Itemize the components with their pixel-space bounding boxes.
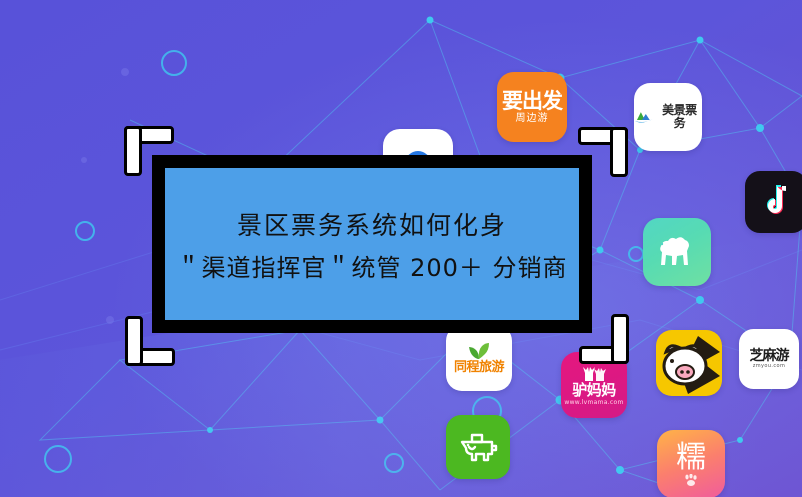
app-icon-qunar[interactable] <box>643 218 711 286</box>
app-icon-feizhu[interactable] <box>656 330 722 396</box>
donkey-pair-icon <box>579 364 609 382</box>
headline-card: 景区票务系统如何化身 ＂渠道指挥官＂统管 200＋ 分销商 <box>152 155 592 333</box>
baidu-paw-icon <box>684 474 698 486</box>
headline-line-2: ＂渠道指挥官＂统管 200＋ 分销商 <box>176 248 567 283</box>
corner-bracket-bottom-right <box>579 314 629 364</box>
app-sublabel-zhimayou: zmyou.com <box>753 364 786 369</box>
app-sublabel-yaochufa: 周边游 <box>516 114 549 125</box>
camel-icon <box>653 232 701 272</box>
poster-canvas: 要出发 周边游 美景票务 同程旅游 <box>0 0 802 497</box>
app-icon-zhimayou[interactable]: 芝麻游 zmyou.com <box>739 329 799 389</box>
elephant-suitcase-icon <box>458 431 498 463</box>
app-icon-meijing[interactable]: 美景票务 <box>634 83 702 151</box>
app-label-meijing: 美景票务 <box>657 104 702 129</box>
leaf-icon <box>468 342 490 360</box>
flying-pig-icon <box>658 332 720 394</box>
app-label-nuomi: 糯 <box>676 442 706 474</box>
headline-card-inner: 景区票务系统如何化身 ＂渠道指挥官＂统管 200＋ 分销商 <box>165 168 579 320</box>
headline-line-1: 景区票务系统如何化身 <box>237 206 507 242</box>
corner-bracket-top-left <box>124 126 174 176</box>
app-sublabel-lvmama: www.lvmama.com <box>564 400 623 406</box>
app-label-tongcheng: 同程旅游 <box>454 361 504 375</box>
mountain-wave-icon <box>634 109 654 125</box>
app-icon-tongcheng[interactable]: 同程旅游 <box>446 325 512 391</box>
app-icon-nuomi[interactable]: 糯 <box>657 430 725 497</box>
app-label-lvmama: 驴妈妈 <box>572 383 616 399</box>
app-label-zhimayou: 芝麻游 <box>750 349 789 364</box>
app-icon-yaochufa[interactable]: 要出发 周边游 <box>497 72 567 142</box>
app-label-yaochufa: 要出发 <box>502 90 562 112</box>
corner-bracket-bottom-left <box>125 316 175 366</box>
corner-bracket-top-right <box>578 127 628 177</box>
app-icon-douyin[interactable] <box>745 171 802 233</box>
app-icon-tuniu[interactable] <box>446 415 510 479</box>
douyin-note-icon <box>759 183 793 221</box>
